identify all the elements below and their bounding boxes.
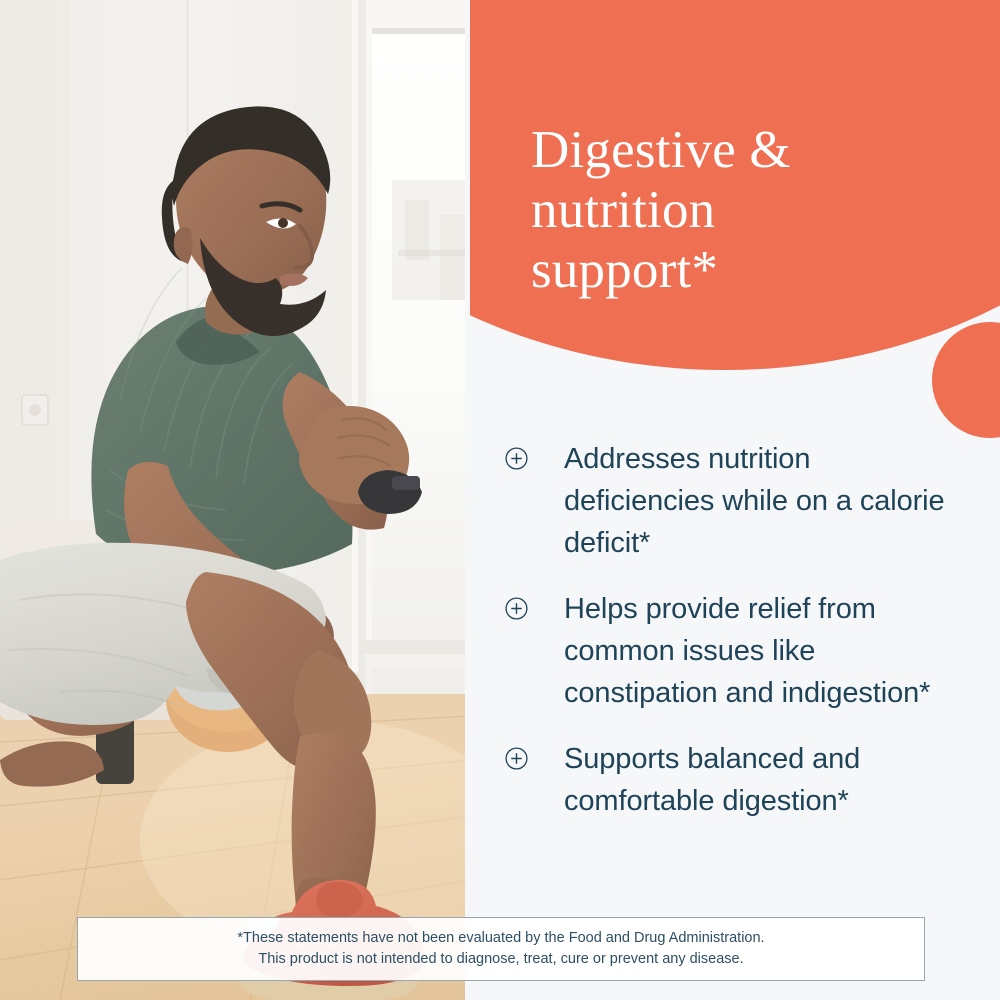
disclaimer-line-2: This product is not intended to diagnose… — [258, 949, 743, 970]
benefits-list: Addresses nutrition deficiencies while o… — [505, 438, 945, 822]
fda-disclaimer: *These statements have not been evaluate… — [77, 917, 925, 981]
list-item: Addresses nutrition deficiencies while o… — [505, 438, 945, 564]
headline-line-3: support* — [531, 240, 951, 300]
list-item: Supports balanced and comfortable digest… — [505, 738, 945, 822]
plus-circle-icon — [505, 597, 528, 620]
benefit-text: Supports balanced and comfortable digest… — [564, 738, 945, 822]
benefit-text: Addresses nutrition deficiencies while o… — [564, 438, 945, 564]
benefit-text: Helps provide relief from common issues … — [564, 588, 945, 714]
headline-line-2: nutrition — [531, 180, 951, 240]
plus-circle-icon — [505, 747, 528, 770]
promo-graphic: Digestive & nutrition support* Addresses… — [0, 0, 1000, 1000]
headline-line-1: Digestive & — [531, 120, 951, 180]
lifestyle-photo — [0, 0, 470, 1000]
list-item: Helps provide relief from common issues … — [505, 588, 945, 714]
disclaimer-line-1: *These statements have not been evaluate… — [237, 928, 764, 949]
page-title: Digestive & nutrition support* — [531, 120, 951, 300]
plus-circle-icon — [505, 447, 528, 470]
